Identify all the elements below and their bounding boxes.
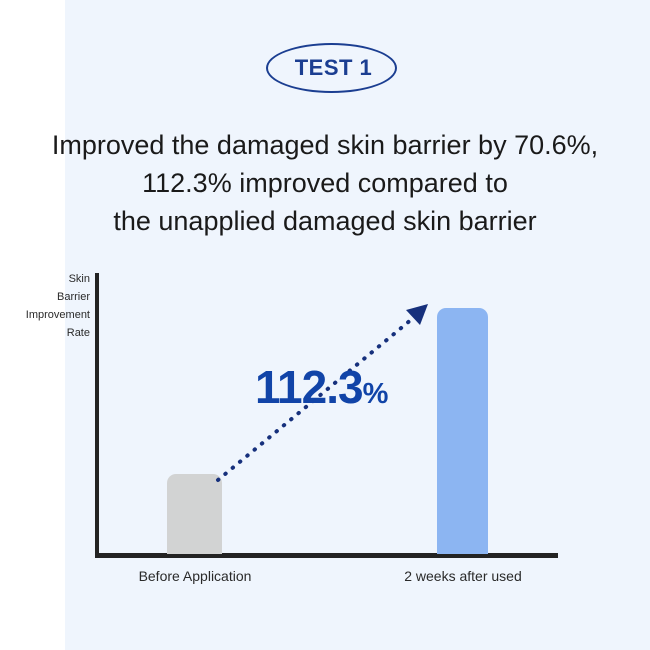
x-axis-line <box>95 553 558 558</box>
x-tick-label-before-application: Before Application <box>92 568 298 584</box>
y-axis-line <box>95 273 99 558</box>
y-axis-label-line-2: Barrier <box>0 288 90 306</box>
y-axis-label: Skin Barrier Improvement Rate <box>0 270 90 342</box>
infographic-canvas: TEST 1 Improved the damaged skin barrier… <box>0 0 650 650</box>
improvement-callout: 112.3% <box>255 364 388 410</box>
improvement-callout-value: 112.3 <box>255 361 363 413</box>
x-tick-label-two-weeks-after-used: 2 weeks after used <box>360 568 566 584</box>
bar-two-weeks-after-used <box>437 308 488 554</box>
y-axis-label-line-4: Rate <box>0 324 90 342</box>
improvement-callout-unit: % <box>363 378 389 410</box>
y-axis-label-line-3: Improvement <box>0 306 90 324</box>
y-axis-label-line-1: Skin <box>0 270 90 288</box>
bar-before-application <box>167 474 222 554</box>
bar-chart: Skin Barrier Improvement Rate Before App… <box>0 0 650 650</box>
